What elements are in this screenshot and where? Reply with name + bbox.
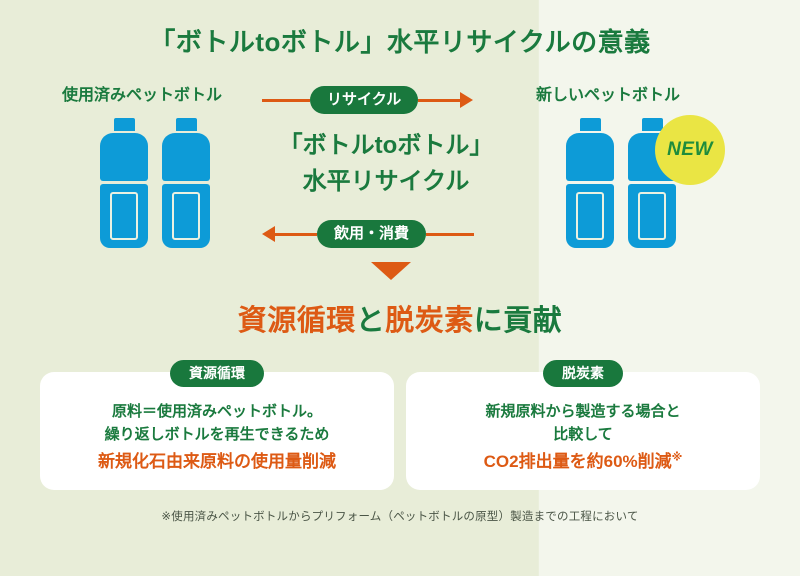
arrow-line-icon [426, 233, 474, 236]
bottle-shoulder-icon [162, 133, 210, 181]
label-used-bottles: 使用済みペットボトル [62, 81, 222, 105]
card-pill-label: 資源循環 [170, 360, 264, 387]
page-title: 「ボトルtoボトル」水平リサイクルの意義 [0, 22, 800, 59]
bottle-label-panel-icon [576, 192, 604, 240]
bottle-cap-icon [114, 118, 135, 131]
arrow-recycle: リサイクル [262, 85, 510, 115]
arrow-line-icon [418, 99, 460, 102]
bottle-cap-icon [580, 118, 601, 131]
arrow-left-icon [262, 226, 275, 242]
headline-part-and: と [356, 305, 386, 337]
card-body-text: 新規原料から製造する場合と 比較して [406, 400, 760, 447]
arrow-consume: 飲用・消費 [262, 219, 510, 249]
label-new-bottles: 新しいペットボトル [536, 81, 680, 105]
card-highlight: CO2排出量を約60%削減※ [406, 450, 760, 474]
bottle-label-panel-icon [110, 192, 138, 240]
benefit-cards: 資源循環 原料＝使用済みペットボトル。 繰り返しボトルを再生できるため 新規化石… [40, 372, 760, 490]
section-headline: 資源循環と脱炭素に貢献 [0, 297, 800, 339]
card-decarbonization: 脱炭素 新規原料から製造する場合と 比較して CO2排出量を約60%削減※ [406, 372, 760, 490]
arrow-line-icon [262, 99, 310, 102]
arrow-right-icon [460, 92, 473, 108]
bottle-cap-icon [642, 118, 663, 131]
bottle-cap-icon [176, 118, 197, 131]
arrow-recycle-label: リサイクル [310, 86, 418, 115]
card-body-line1: 原料＝使用済みペットボトル。 [40, 400, 394, 423]
bottle-label-panel-icon [172, 192, 200, 240]
card-body-line2: 比較して [406, 423, 760, 446]
card-highlight-note: ※ [672, 451, 683, 463]
card-body-line2: 繰り返しボトルを再生できるため [40, 423, 394, 446]
card-body-text: 原料＝使用済みペットボトル。 繰り返しボトルを再生できるため [40, 400, 394, 447]
pet-bottle-icon [562, 118, 618, 248]
bottle-group-used [96, 118, 214, 248]
pet-bottle-icon [158, 118, 214, 248]
infographic-canvas: 「ボトルtoボトル」水平リサイクルの意義 使用済みペットボトル 新しいペットボト… [0, 0, 800, 576]
pet-bottle-icon [96, 118, 152, 248]
arrow-down-icon [371, 262, 411, 280]
card-highlight-text: CO2排出量を約60%削減 [484, 452, 672, 471]
arrow-line-icon [275, 233, 317, 236]
new-badge-label: NEW [667, 139, 713, 161]
card-highlight-text: 新規化石由来原料の使用量削減 [98, 452, 336, 471]
card-resource-circulation: 資源循環 原料＝使用済みペットボトル。 繰り返しボトルを再生できるため 新規化石… [40, 372, 394, 490]
center-concept-line1: 「ボトルtoボトル」 [240, 128, 532, 164]
center-concept-text: 「ボトルtoボトル」 水平リサイクル [240, 128, 532, 200]
new-badge: NEW [655, 115, 725, 185]
footnote: ※使用済みペットボトルからプリフォーム（ペットボトルの原型）製造までの工程におい… [0, 508, 800, 524]
arrow-consume-label: 飲用・消費 [317, 220, 426, 249]
center-concept-line2: 水平リサイクル [240, 164, 532, 200]
bottle-label-panel-icon [638, 192, 666, 240]
headline-part-decarbonization: 脱炭素 [385, 305, 474, 337]
card-body-line1: 新規原料から製造する場合と [406, 400, 760, 423]
bottle-shoulder-icon [566, 133, 614, 181]
headline-part-contribute: に貢献 [474, 305, 563, 337]
bottle-shoulder-icon [100, 133, 148, 181]
headline-part-resource-circulation: 資源循環 [238, 305, 356, 337]
card-highlight: 新規化石由来原料の使用量削減 [40, 450, 394, 474]
card-pill-label: 脱炭素 [543, 360, 623, 387]
